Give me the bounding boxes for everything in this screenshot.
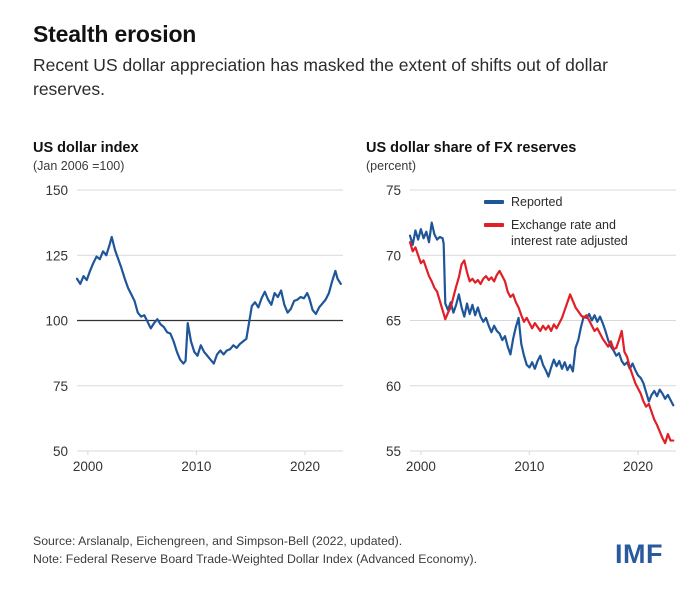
plot-area-left: 5075100125150200020102020	[33, 182, 351, 492]
source-text: Source: Arslanalp, Eichengreen, and Simp…	[33, 533, 477, 551]
chart-legend: ReportedExchange rate and interest rate …	[484, 194, 628, 256]
y-axis-tick-label: 70	[386, 249, 401, 264]
footer-notes: Source: Arslanalp, Eichengreen, and Simp…	[33, 533, 477, 569]
y-axis-tick-label: 55	[386, 444, 401, 459]
chart-title-right: US dollar share of FX reserves	[366, 140, 696, 157]
note-text: Note: Federal Reserve Board Trade-Weight…	[33, 551, 477, 569]
charts-container: US dollar index (Jan 2006 =100) 50751001…	[0, 140, 696, 520]
y-axis-tick-label: 75	[53, 379, 68, 394]
legend-item: Exchange rate and interest rate adjusted	[484, 217, 628, 249]
data-series-line	[77, 237, 341, 364]
legend-label: Reported	[511, 194, 562, 210]
y-axis-tick-label: 75	[386, 183, 401, 198]
x-axis-tick-label: 2010	[514, 459, 544, 474]
y-axis-tick-label: 100	[45, 314, 68, 329]
x-axis-tick-label: 2020	[290, 459, 320, 474]
y-axis-tick-label: 50	[53, 444, 68, 459]
footer: Source: Arslanalp, Eichengreen, and Simp…	[33, 533, 663, 569]
x-axis-tick-label: 2000	[406, 459, 436, 474]
x-axis-tick-label: 2020	[623, 459, 653, 474]
legend-item: Reported	[484, 194, 628, 210]
x-axis-tick-label: 2000	[73, 459, 103, 474]
legend-swatch-icon	[484, 223, 504, 227]
page-title: Stealth erosion	[33, 22, 663, 47]
imf-logo: IMF	[615, 541, 663, 568]
infographic-root: Stealth erosion Recent US dollar appreci…	[0, 0, 696, 601]
chart-panel-us-dollar-index: US dollar index (Jan 2006 =100) 50751001…	[33, 140, 363, 520]
x-axis-tick-label: 2010	[181, 459, 211, 474]
y-axis-tick-label: 60	[386, 379, 401, 394]
chart-title-left: US dollar index	[33, 140, 363, 157]
line-chart-left: 5075100125150200020102020	[33, 182, 351, 487]
page-subtitle: Recent US dollar appreciation has masked…	[33, 54, 653, 101]
y-axis-tick-label: 65	[386, 314, 401, 329]
data-series-line	[410, 243, 673, 444]
y-axis-tick-label: 125	[45, 249, 68, 264]
legend-label: Exchange rate and interest rate adjusted	[511, 217, 628, 249]
chart-subtitle-right: (percent)	[366, 159, 696, 174]
y-axis-tick-label: 150	[45, 183, 68, 198]
header: Stealth erosion Recent US dollar appreci…	[33, 22, 663, 102]
legend-swatch-icon	[484, 200, 504, 204]
plot-area-right: 5560657075200020102020 ReportedExchange …	[366, 182, 684, 492]
chart-subtitle-left: (Jan 2006 =100)	[33, 159, 363, 174]
chart-panel-fx-reserves: US dollar share of FX reserves (percent)…	[366, 140, 696, 520]
